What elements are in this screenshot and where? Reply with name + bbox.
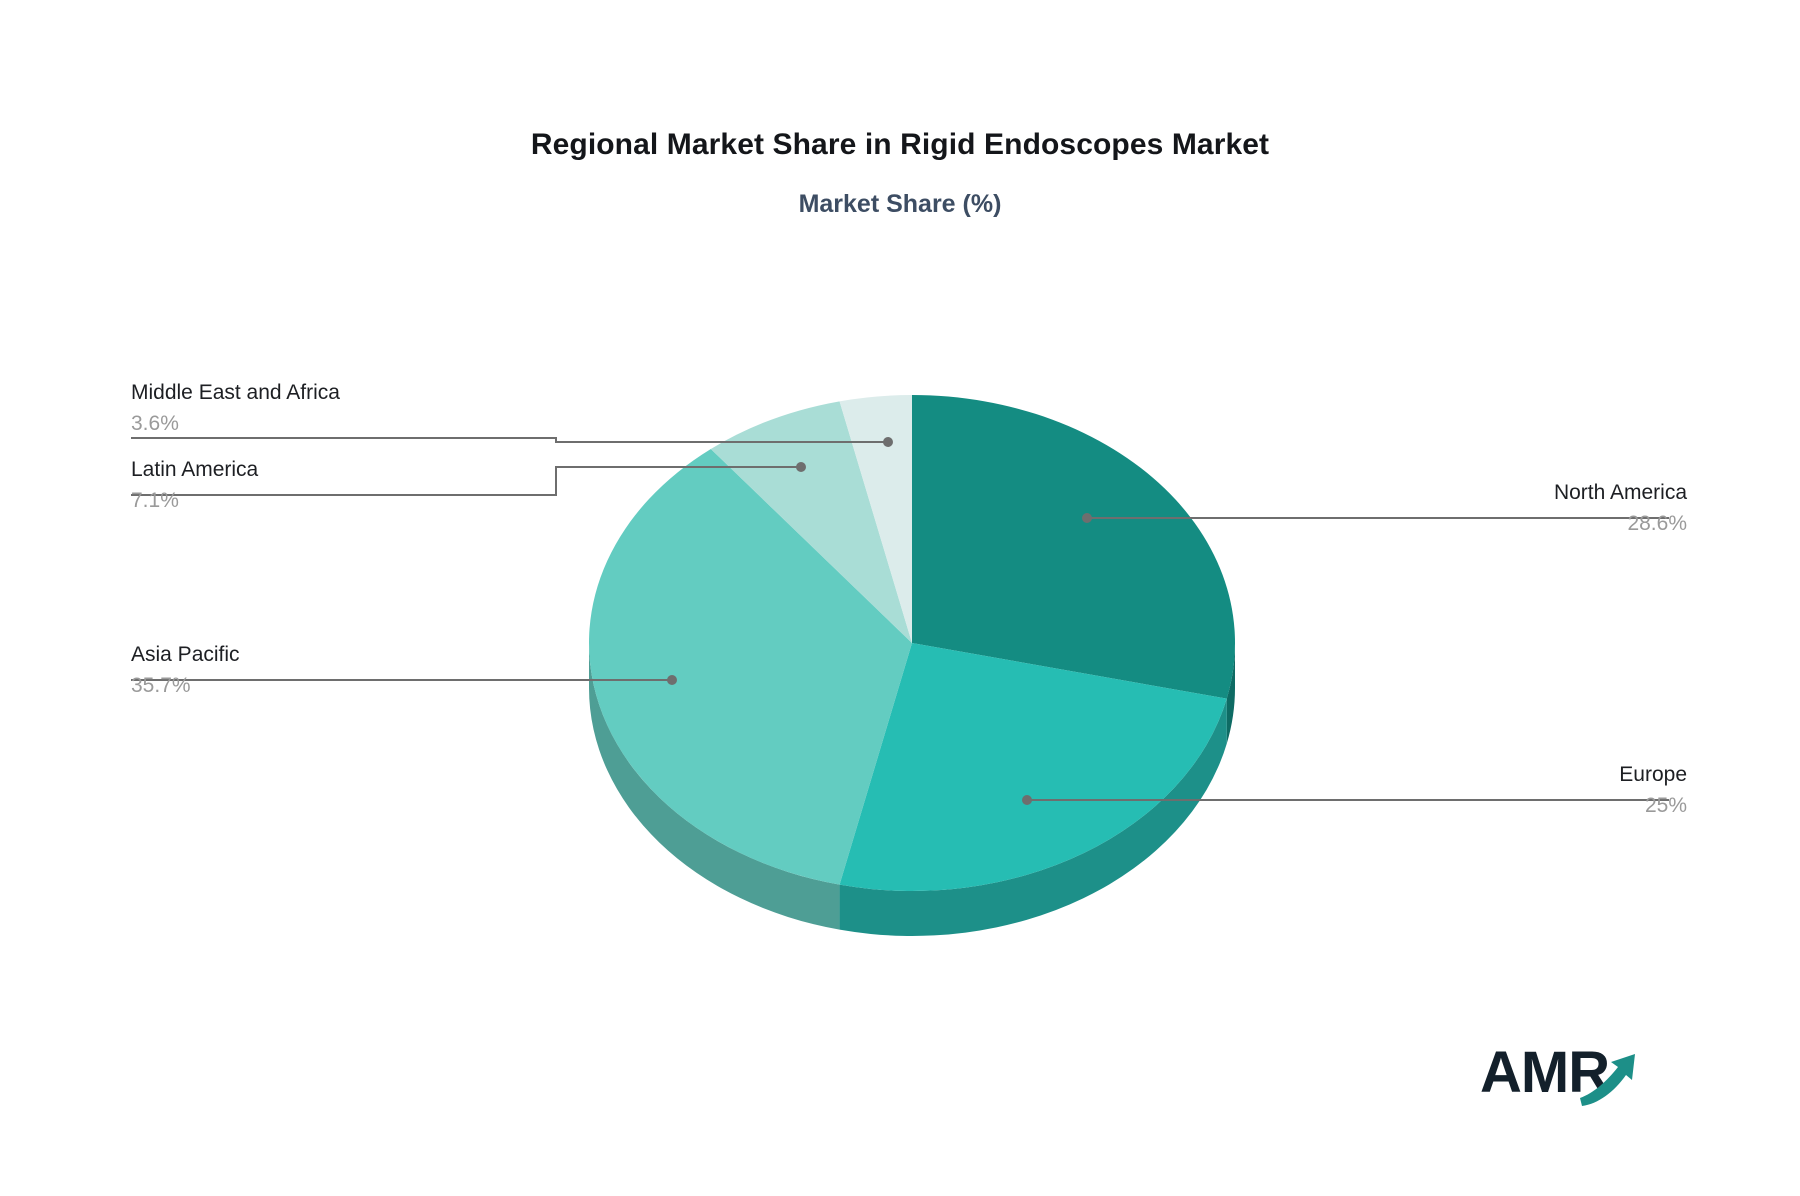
callout-latin-america[interactable]: Latin America 7.1% — [131, 457, 258, 515]
callout-value-middle-east-and-africa: 3.6% — [131, 411, 340, 437]
callout-label-latin-america: Latin America — [131, 457, 258, 483]
callout-value-latin-america: 7.1% — [131, 488, 258, 514]
leader-dot-europe — [1022, 795, 1032, 805]
callout-middle-east-and-africa[interactable]: Middle East and Africa 3.6% — [131, 380, 340, 438]
callout-label-north-america: North America — [1554, 480, 1687, 506]
callout-europe[interactable]: Europe 25% — [1619, 762, 1687, 820]
leader-dot-asia-pacific — [667, 675, 677, 685]
chart-subtitle: Market Share (%) — [0, 190, 1800, 219]
callout-value-europe: 25% — [1619, 793, 1687, 819]
pie-slices — [589, 395, 1235, 891]
leader-dot-north-america — [1082, 513, 1092, 523]
pie-chart-canvas — [0, 0, 1800, 1196]
callout-north-america[interactable]: North America 28.6% — [1554, 480, 1687, 538]
chart-title: Regional Market Share in Rigid Endoscope… — [0, 128, 1800, 162]
leader-dot-latin-america — [796, 462, 806, 472]
callout-value-north-america: 28.6% — [1554, 511, 1687, 537]
amr-logo: AMR — [1480, 1040, 1660, 1120]
callout-label-asia-pacific: Asia Pacific — [131, 642, 240, 668]
callout-value-asia-pacific: 35.7% — [131, 673, 240, 699]
leader-dot-middle-east-and-africa — [883, 437, 893, 447]
callout-label-middle-east-and-africa: Middle East and Africa — [131, 380, 340, 406]
callout-label-europe: Europe — [1619, 762, 1687, 788]
callout-asia-pacific[interactable]: Asia Pacific 35.7% — [131, 642, 240, 700]
